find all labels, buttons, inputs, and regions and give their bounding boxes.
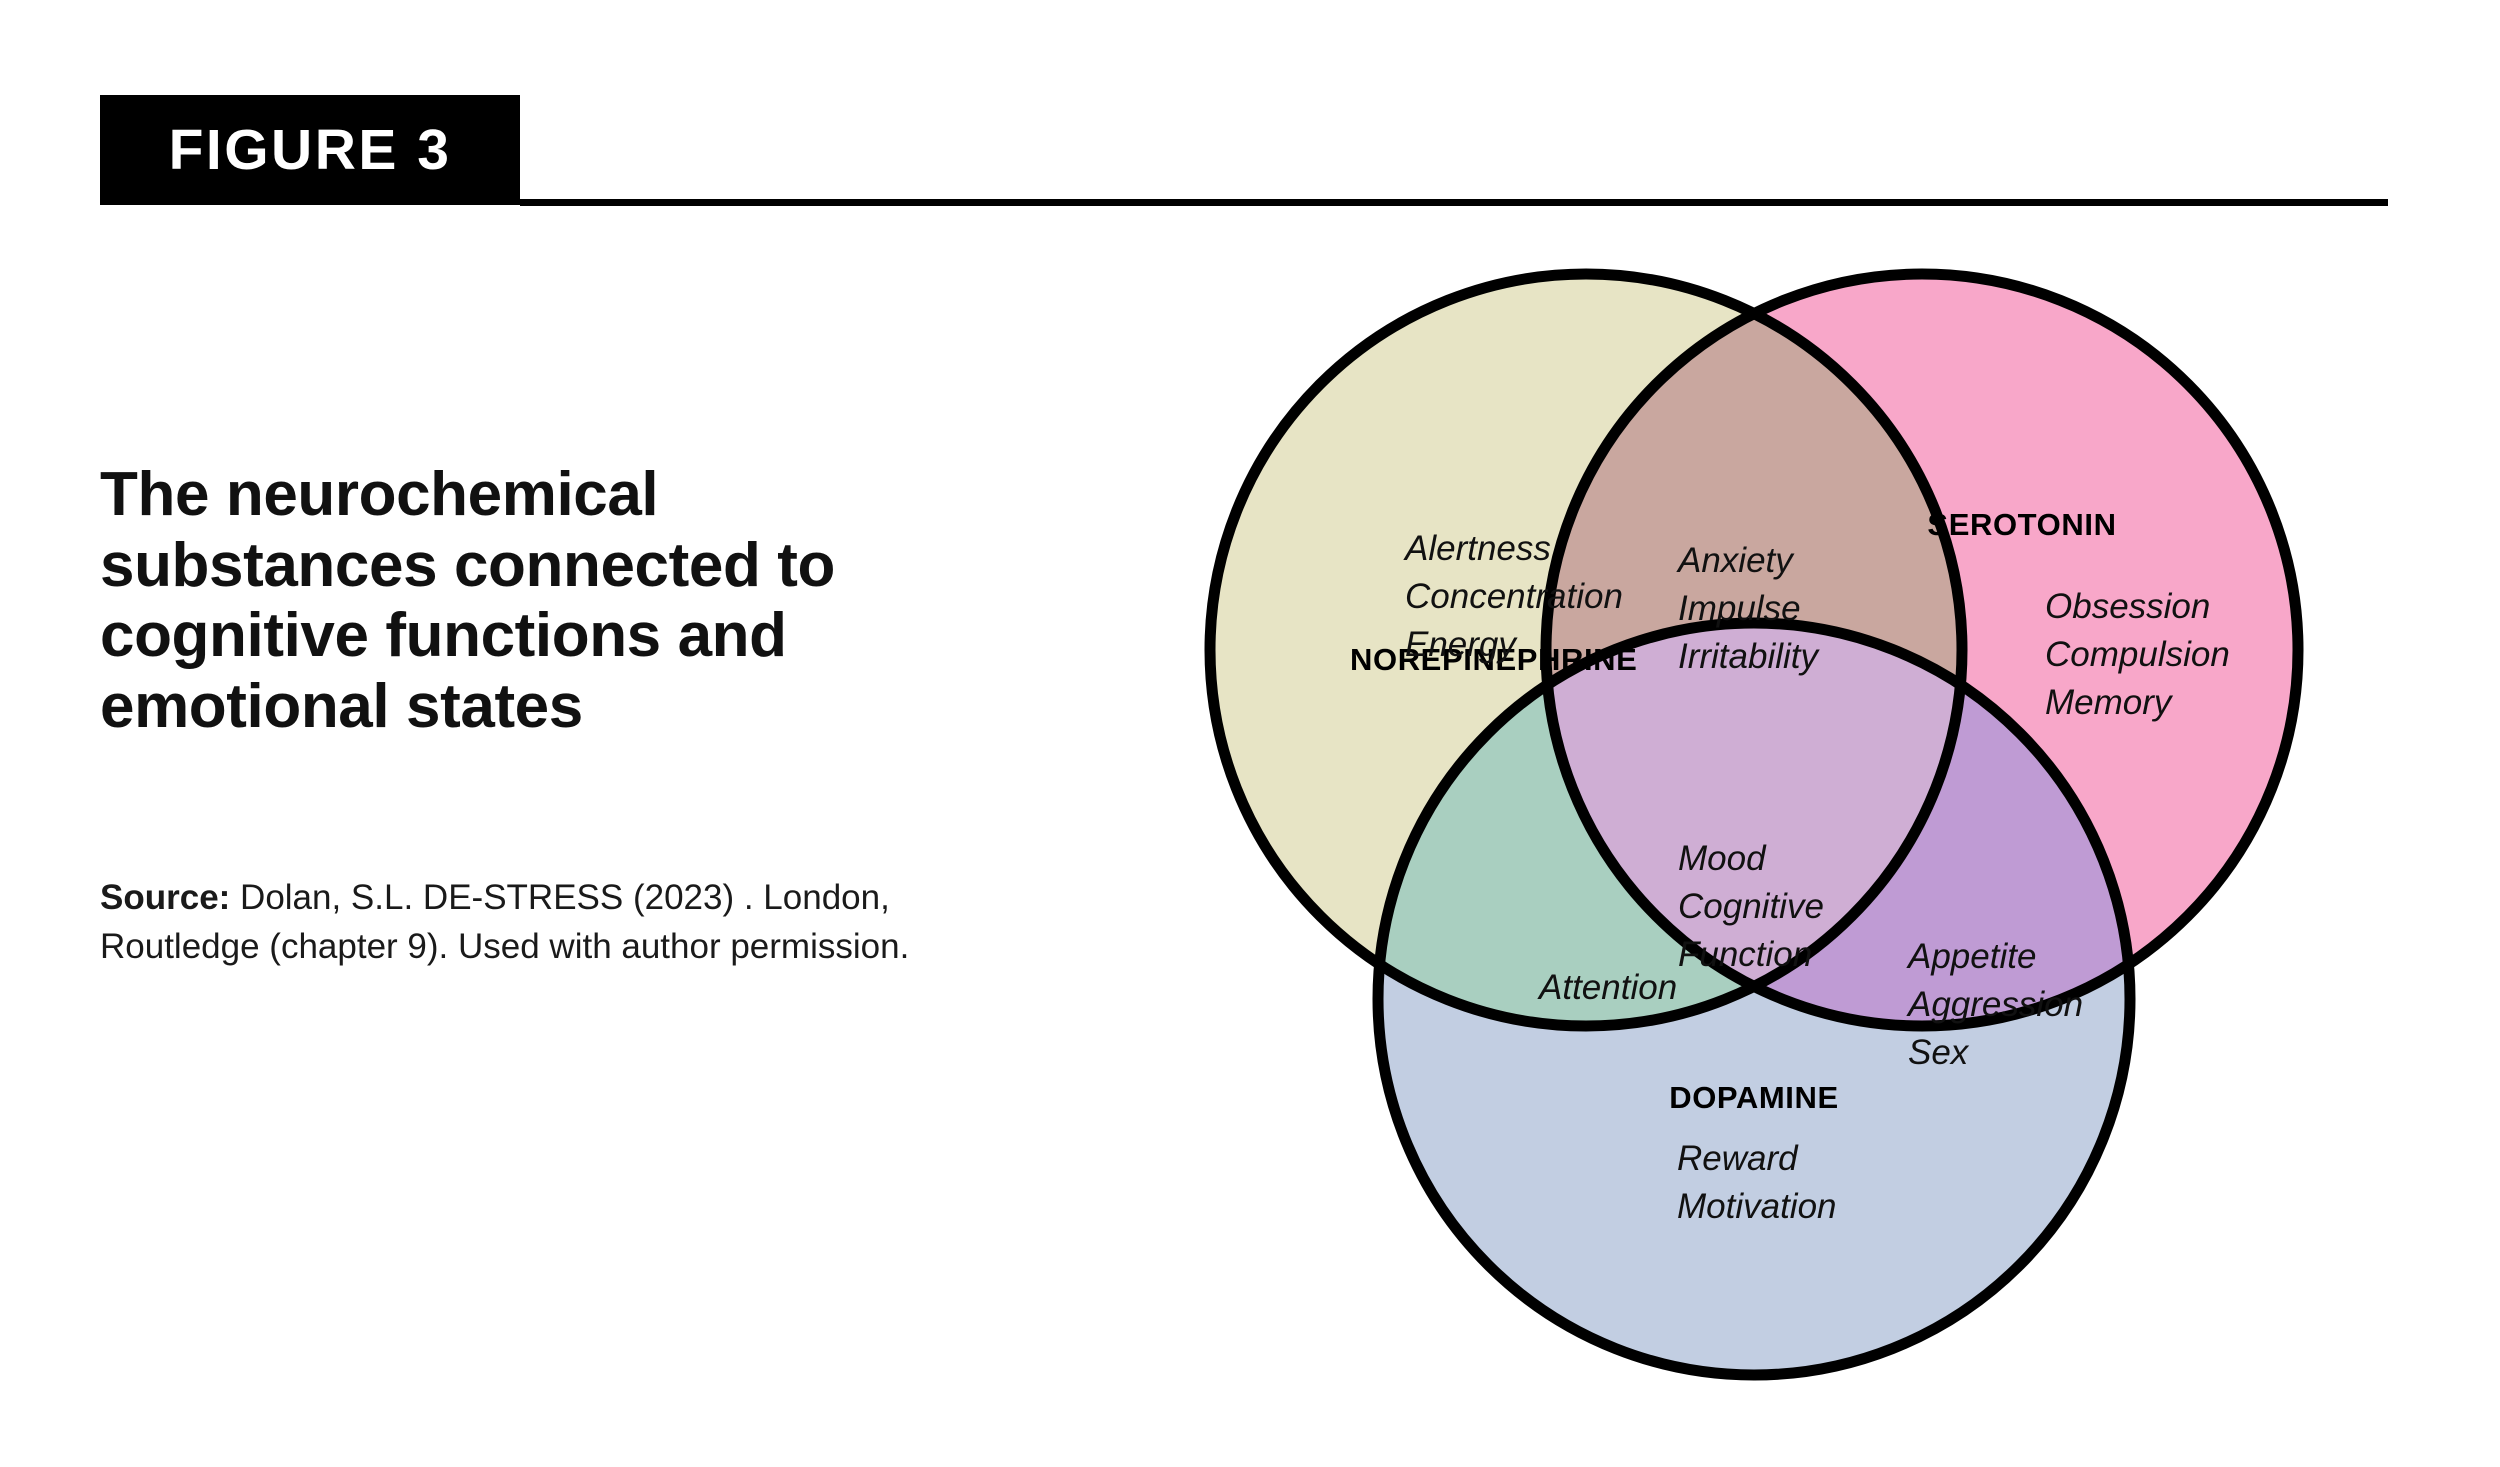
- set-label-dopamine: DOPAMINE: [1669, 1080, 1839, 1115]
- source-citation: Source: Dolan, S.L. DE-STRESS (2023) . L…: [100, 873, 930, 972]
- figure-number-label: FIGURE 3: [169, 117, 452, 183]
- item-norepinephrine-2: Concentration: [1405, 577, 1623, 616]
- item-serotonin-1: Obsession: [2045, 587, 2210, 626]
- item-all-three-3: Function: [1678, 935, 1812, 974]
- set-label-serotonin: SEROTONIN: [1927, 507, 2116, 542]
- item-ser-dop-2: Aggression: [1906, 985, 2083, 1024]
- source-label: Source:: [100, 878, 230, 917]
- item-ne-dop-1: Attention: [1537, 968, 1677, 1007]
- header-divider-rule: [520, 199, 2388, 206]
- figure-header: FIGURE 3: [0, 0, 2500, 230]
- item-serotonin-3: Memory: [2045, 683, 2174, 722]
- item-dopamine-2: Motivation: [1677, 1187, 1837, 1226]
- venn-diagram-svg: NOREPINEPHRINE SEROTONIN DOPAMINE Alertn…: [1150, 250, 2400, 1430]
- item-ne-ser-1: Anxiety: [1676, 541, 1795, 580]
- item-all-three-2: Cognitive: [1678, 887, 1824, 926]
- item-ser-dop-1: Appetite: [1906, 937, 2036, 976]
- figure-number-badge: FIGURE 3: [100, 95, 520, 205]
- item-all-three-1: Mood: [1678, 839, 1767, 878]
- item-ser-dop-3: Sex: [1908, 1033, 1970, 1072]
- left-text-column: The neurochemical substances connected t…: [100, 460, 960, 1007]
- venn-diagram: NOREPINEPHRINE SEROTONIN DOPAMINE Alertn…: [1150, 250, 2400, 1430]
- item-dopamine-1: Reward: [1677, 1139, 1799, 1178]
- item-norepinephrine-3: Energy: [1405, 625, 1518, 664]
- item-ne-ser-2: Impulse: [1678, 589, 1801, 628]
- figure-title: The neurochemical substances connected t…: [100, 460, 960, 743]
- item-ne-ser-3: Irritability: [1678, 637, 1821, 676]
- item-serotonin-2: Compulsion: [2045, 635, 2230, 674]
- item-norepinephrine-1: Alertness: [1403, 529, 1551, 568]
